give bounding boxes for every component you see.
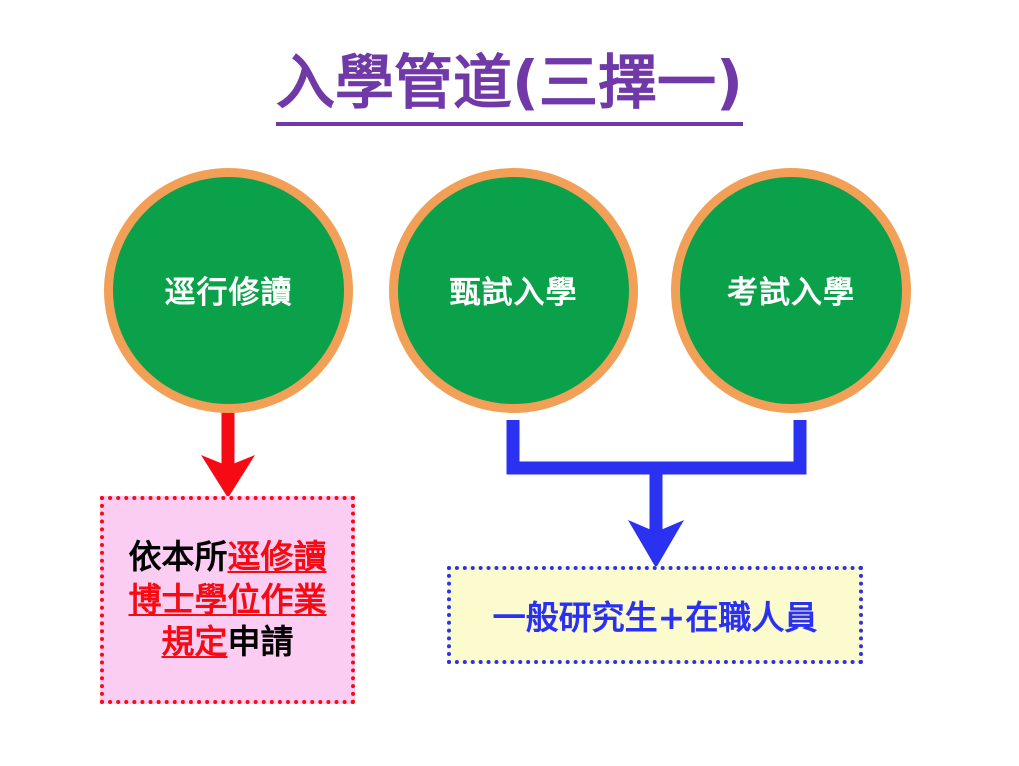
page-title: 入學管道(三擇一) [0,52,1019,114]
red-arrow-icon [201,402,255,498]
text-segment-plain-tail: 申請 [228,622,294,661]
outcome-box-self-study-text: 依本所逕修讀博士學位作業規定申請 [129,536,327,664]
option-circle-exam-admission[interactable]: 考試入學 [671,168,911,413]
option-circle-self-study[interactable]: 逕行修讀 [104,168,353,413]
slide-canvas: 入學管道(三擇一) 逕行修讀 甄試入學 考試入學 依本所逕修讀博士學位作業規定申… [0,0,1019,766]
option-circle-selection-admission[interactable]: 甄試入學 [389,168,638,413]
outcome-box-admission: 一般研究生+在職人員 [447,566,863,664]
option-circle-label: 逕行修讀 [165,267,293,312]
option-circle-label: 甄試入學 [450,267,578,312]
text-segment-plain: 依本所 [129,537,228,576]
page-title-text: 入學管道(三擇一) [276,48,743,126]
outcome-box-admission-text: 一般研究生+在職人員 [493,591,818,639]
option-circle-label: 考試入學 [727,267,855,312]
outcome-box-self-study: 依本所逕修讀博士學位作業規定申請 [100,496,355,704]
blue-bracket-arrow-icon [513,420,800,568]
